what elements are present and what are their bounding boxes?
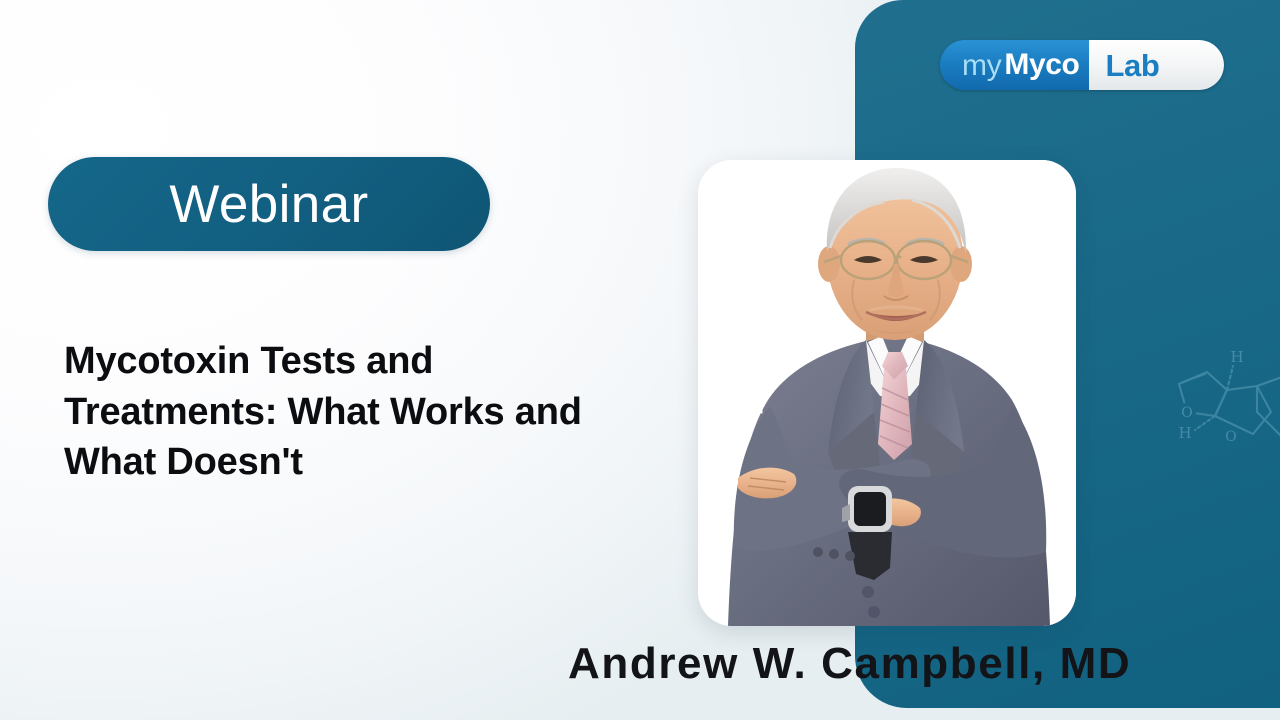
logo-text-my: my [962,51,1001,81]
svg-text:O: O [1181,405,1192,421]
logo-text-myco: Myco [1004,50,1079,80]
webinar-badge-label: Webinar [169,178,368,231]
logo-text-lab: Lab [1105,50,1159,81]
logo-white-section: Lab [1089,40,1224,90]
webinar-promo-slide: O O H H O [0,0,1280,720]
molecule-decoration-icon: O O H H O [1145,320,1280,500]
webinar-badge: Webinar [48,157,490,251]
speaker-photo-card [698,160,1076,626]
mymycolab-logo[interactable]: my Myco Lab [940,40,1224,90]
svg-text:H: H [1178,424,1191,442]
speaker-portrait-image [698,160,1076,626]
page-title: Mycotoxin Tests and Treatments: What Wor… [64,336,644,488]
svg-text:H: H [1230,348,1243,366]
svg-text:O: O [1225,429,1236,445]
logo-blue-section: my Myco [940,40,1089,90]
